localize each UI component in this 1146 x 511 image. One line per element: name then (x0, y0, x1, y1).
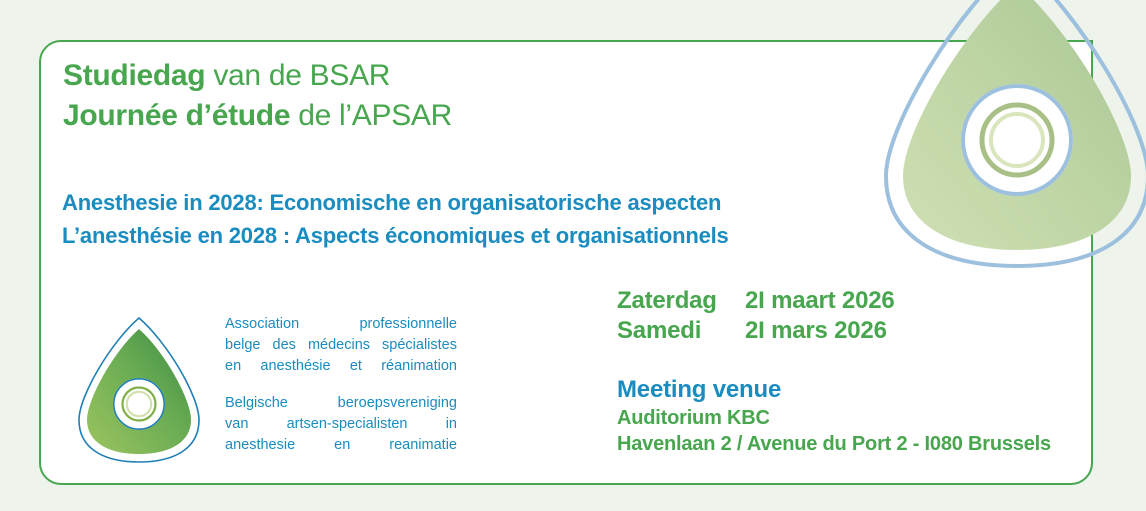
association-text: Association professionnelle belge des mé… (225, 314, 457, 456)
association-fr-line-3: en anesthésie et réanimation (225, 356, 457, 377)
date-value-fr: 2I mars 2026 (745, 316, 887, 346)
association-nl-line-1: Belgische beroepsvereniging (225, 393, 457, 414)
association-nl-line-3: anesthesie en reanimatie (225, 435, 457, 456)
poster-canvas: Studiedag van de BSAR Journée d’étude de… (0, 0, 1146, 511)
headline-line-nl: Studiedag van de BSAR (63, 56, 763, 96)
association-fr-line-2: belge des médecins spécialistes (225, 335, 457, 356)
headline-fr-rest: de l’APSAR (290, 99, 452, 132)
subtitle-block: Anesthesie in 2028: Economische en organ… (62, 186, 942, 252)
bsar-apsar-logo (71, 312, 208, 467)
headline-nl-rest: van de BSAR (205, 59, 390, 92)
date-row-fr: Samedi 2I mars 2026 (617, 316, 895, 346)
subtitle-fr: L’anesthésie en 2028 : Aspects économiqu… (62, 219, 942, 252)
date-day-nl: Zaterdag (617, 286, 745, 316)
venue-address: Havenlaan 2 / Avenue du Port 2 - I080 Br… (617, 431, 1051, 457)
headline-line-fr: Journée d’étude de l’APSAR (63, 96, 763, 136)
date-row-nl: Zaterdag 2I maart 2026 (617, 286, 895, 316)
venue-title: Meeting venue (617, 375, 1051, 405)
headline-block: Studiedag van de BSAR Journée d’étude de… (63, 56, 763, 136)
date-day-fr: Samedi (617, 316, 745, 346)
association-nl: Belgische beroepsvereniging van artsen-s… (225, 393, 457, 456)
subtitle-nl: Anesthesie in 2028: Economische en organ… (62, 186, 942, 219)
venue-name: Auditorium KBC (617, 405, 1051, 431)
headline-fr-bold: Journée d’étude (63, 99, 290, 132)
date-block: Zaterdag 2I maart 2026 Samedi 2I mars 20… (617, 286, 895, 346)
date-value-nl: 2I maart 2026 (745, 286, 895, 316)
association-fr: Association professionnelle belge des mé… (225, 314, 457, 377)
association-nl-line-2: van artsen-specialisten in (225, 414, 457, 435)
venue-block: Meeting venue Auditorium KBC Havenlaan 2… (617, 375, 1051, 457)
association-fr-line-1: Association professionnelle (225, 314, 457, 335)
headline-nl-bold: Studiedag (63, 59, 205, 92)
